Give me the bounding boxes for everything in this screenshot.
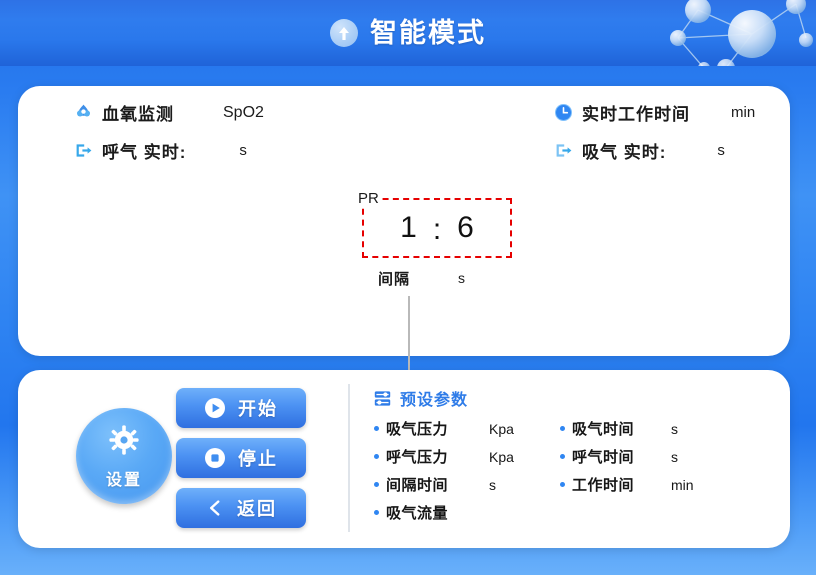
preset-item-label: 呼气压力 — [386, 446, 448, 467]
back-button-label: 返回 — [237, 495, 277, 521]
preset-item-unit: s — [489, 477, 496, 493]
preset-item: 呼气时间 s — [560, 446, 678, 467]
preset-item: 工作时间 min — [560, 474, 694, 495]
app-header: 智能模式 — [0, 0, 816, 66]
start-button-label: 开始 — [238, 395, 278, 421]
preset-item-unit: Kpa — [489, 449, 514, 465]
page-title: 智能模式 — [370, 20, 486, 47]
preset-params-section: 预设参数 吸气压力 Kpa 呼气压力 Kpa 间隔时间 s — [374, 386, 774, 528]
preset-params-title: 预设参数 — [400, 386, 468, 410]
preset-item-label: 间隔时间 — [386, 474, 448, 495]
spo2-value-label: SpO2 — [223, 104, 264, 122]
preset-item-label: 呼气时间 — [572, 446, 634, 467]
pr-label: PR — [358, 190, 379, 207]
app-root: 智能模式 — [0, 0, 816, 575]
bullet-icon — [374, 482, 379, 487]
exhale-label: 呼气 实时: — [102, 138, 186, 163]
back-button[interactable]: 返回 — [176, 488, 306, 528]
ratio-right-value: 6 — [457, 213, 474, 243]
ie-ratio-box[interactable]: 1 : 6 — [362, 198, 512, 258]
inhale-row: 吸气 实时: s — [554, 138, 725, 163]
clock-icon — [554, 103, 573, 122]
bullet-icon — [560, 482, 565, 487]
settings-button-label: 设置 — [106, 466, 142, 490]
preset-item: 吸气时间 s — [560, 418, 678, 439]
exhale-unit: s — [239, 142, 247, 159]
chevron-left-icon — [205, 498, 225, 518]
settings-button[interactable]: 设置 — [76, 408, 172, 504]
ratio-colon: : — [433, 215, 441, 245]
bullet-icon — [560, 454, 565, 459]
exhale-row: 呼气 实时: s — [74, 138, 247, 163]
stop-icon — [204, 447, 226, 469]
blood-oxygen-icon — [74, 103, 93, 122]
sliders-icon — [374, 390, 391, 407]
preset-item-label: 吸气流量 — [386, 502, 448, 523]
preset-item-unit: s — [671, 421, 678, 437]
spo2-row: 血氧监测 SpO2 — [74, 100, 264, 125]
preset-item: 间隔时间 s — [374, 474, 496, 495]
bullet-icon — [374, 510, 379, 515]
preset-item-label: 吸气压力 — [386, 418, 448, 439]
monitor-panel: 血氧监测 SpO2 呼气 实时: s — [18, 86, 790, 356]
gear-icon — [106, 422, 142, 463]
spo2-label: 血氧监测 — [102, 100, 174, 125]
exhale-arrow-icon — [74, 141, 93, 160]
start-button[interactable]: 开始 — [176, 388, 306, 428]
stop-button-label: 停止 — [238, 445, 278, 471]
bullet-icon — [374, 454, 379, 459]
inhale-label: 吸气 实时: — [582, 138, 666, 163]
preset-item: 吸气压力 Kpa — [374, 418, 514, 439]
preset-item-label: 工作时间 — [572, 474, 634, 495]
control-panel: 设置 开始 停止 — [18, 370, 790, 548]
worktime-label: 实时工作时间 — [582, 100, 690, 125]
preset-item: 呼气压力 Kpa — [374, 446, 514, 467]
panel-divider — [348, 384, 350, 532]
play-icon — [204, 397, 226, 419]
preset-item-unit: Kpa — [489, 421, 514, 437]
stop-button[interactable]: 停止 — [176, 438, 306, 478]
monitor-readouts: 血氧监测 SpO2 呼气 实时: s — [18, 98, 790, 176]
inhale-arrow-icon — [554, 141, 573, 160]
preset-item-unit: min — [671, 477, 694, 493]
preset-params-list: 吸气压力 Kpa 呼气压力 Kpa 间隔时间 s 吸气流量 — [374, 418, 774, 528]
arrow-up-icon — [330, 19, 358, 47]
preset-item: 吸气流量 — [374, 502, 489, 523]
preset-item-unit: s — [671, 449, 678, 465]
preset-item-label: 吸气时间 — [572, 418, 634, 439]
worktime-row: 实时工作时间 min — [554, 100, 755, 125]
worktime-unit: min — [731, 104, 755, 121]
ratio-left-value: 1 — [400, 213, 417, 243]
bullet-icon — [374, 426, 379, 431]
inhale-unit: s — [717, 142, 725, 159]
bullet-icon — [560, 426, 565, 431]
